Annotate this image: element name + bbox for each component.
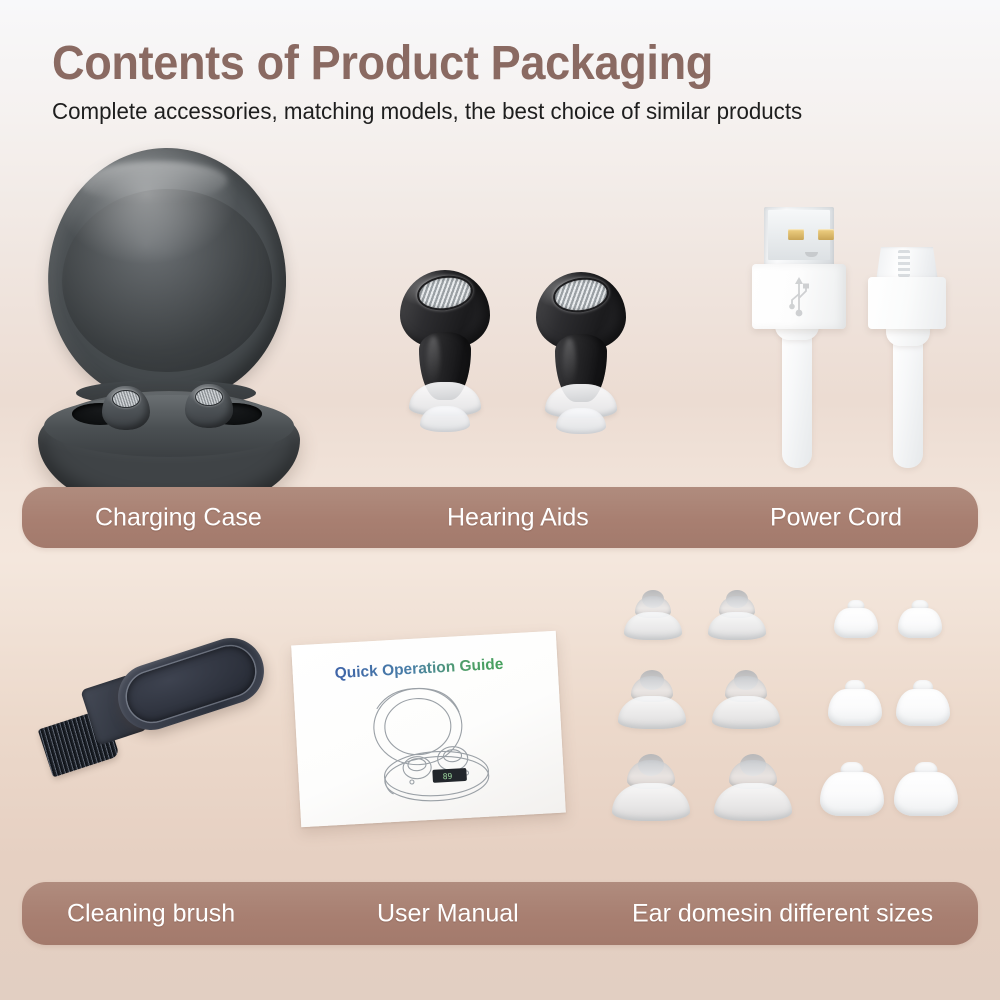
ear-dome-double-flange-medium-1 bbox=[616, 672, 688, 732]
label-user-manual: User Manual bbox=[377, 899, 519, 928]
usb-a-metal-tip bbox=[764, 207, 834, 269]
infographic-canvas: Contents of Product Packaging Complete a… bbox=[0, 0, 1000, 1000]
dome-cone bbox=[898, 608, 942, 638]
hearing-aid-ear-dome-lower bbox=[556, 408, 606, 434]
charging-case-rim bbox=[44, 395, 294, 457]
hearing-aid-left bbox=[396, 270, 494, 445]
micro-usb-connector bbox=[868, 247, 946, 329]
label-ear-domes: Ear domesin different sizes bbox=[632, 899, 933, 928]
label-bar-row-1: Charging Case Hearing Aids Power Cord bbox=[22, 487, 978, 548]
dome-lower-flange bbox=[712, 696, 780, 729]
dome-cone bbox=[896, 689, 950, 726]
dome-lower-flange bbox=[612, 783, 690, 821]
usb-a-connector bbox=[752, 207, 846, 327]
svg-text:89: 89 bbox=[442, 772, 452, 782]
usb-a-housing bbox=[752, 264, 846, 329]
docked-hearing-aid-right bbox=[185, 384, 233, 428]
ear-dome-double-flange-medium-2 bbox=[710, 672, 782, 732]
usb-a-gold-pin bbox=[818, 229, 834, 240]
ear-dome-single-flange-small-2 bbox=[896, 600, 944, 642]
usb-trident-icon bbox=[786, 274, 812, 318]
ear-dome-double-flange-large-1 bbox=[610, 756, 692, 824]
dome-cone bbox=[828, 689, 882, 726]
hearing-aid-right bbox=[532, 272, 630, 447]
dome-cone bbox=[834, 608, 878, 638]
dome-lower-flange bbox=[708, 612, 766, 640]
ear-dome-double-flange-small-1 bbox=[622, 592, 684, 642]
hearing-aid-grill-icon bbox=[195, 388, 223, 406]
ear-dome-single-flange-medium-1 bbox=[826, 680, 884, 732]
ear-dome-double-flange-large-2 bbox=[712, 756, 794, 824]
ear-dome-single-flange-large-1 bbox=[818, 762, 886, 824]
micro-usb-housing bbox=[868, 277, 946, 329]
hearing-aid-swirl-cap-icon bbox=[551, 274, 611, 315]
dome-cone bbox=[894, 772, 958, 816]
ear-dome-single-flange-large-2 bbox=[892, 762, 960, 824]
dome-lower-flange bbox=[618, 696, 686, 729]
user-manual-image: Quick Operation Guide 89 bbox=[291, 631, 566, 828]
dome-lower-flange bbox=[624, 612, 682, 640]
docked-hearing-aid-left bbox=[102, 386, 150, 430]
brush-handle bbox=[109, 629, 272, 738]
page-title: Contents of Product Packaging bbox=[52, 36, 898, 91]
manual-case-line-drawing: 89 bbox=[349, 677, 516, 811]
dome-lower-flange bbox=[714, 783, 792, 821]
cleaning-brush-image bbox=[36, 645, 272, 770]
label-power-cord: Power Cord bbox=[770, 503, 902, 532]
micro-usb-metal-tip bbox=[876, 247, 938, 281]
hearing-aid-grill-icon bbox=[112, 390, 140, 408]
ear-dome-single-flange-medium-2 bbox=[894, 680, 952, 732]
usb-a-gold-pin bbox=[788, 229, 804, 240]
label-bar-row-2: Cleaning brush User Manual Ear domesin d… bbox=[22, 882, 978, 945]
hearing-aid-swirl-cap-icon bbox=[415, 272, 475, 313]
hearing-aid-ear-dome-lower bbox=[420, 406, 470, 432]
dome-cone bbox=[820, 772, 884, 816]
charging-case-lid bbox=[46, 146, 288, 405]
page-subtitle: Complete accessories, matching models, t… bbox=[52, 98, 944, 125]
label-cleaning-brush: Cleaning brush bbox=[67, 899, 235, 928]
label-charging-case: Charging Case bbox=[95, 503, 262, 532]
charging-case-image: 89 bbox=[38, 148, 303, 463]
label-hearing-aids: Hearing Aids bbox=[447, 503, 589, 532]
usb-a-notch bbox=[805, 252, 818, 257]
ear-dome-double-flange-small-2 bbox=[706, 592, 768, 642]
ear-dome-single-flange-small-1 bbox=[832, 600, 880, 642]
